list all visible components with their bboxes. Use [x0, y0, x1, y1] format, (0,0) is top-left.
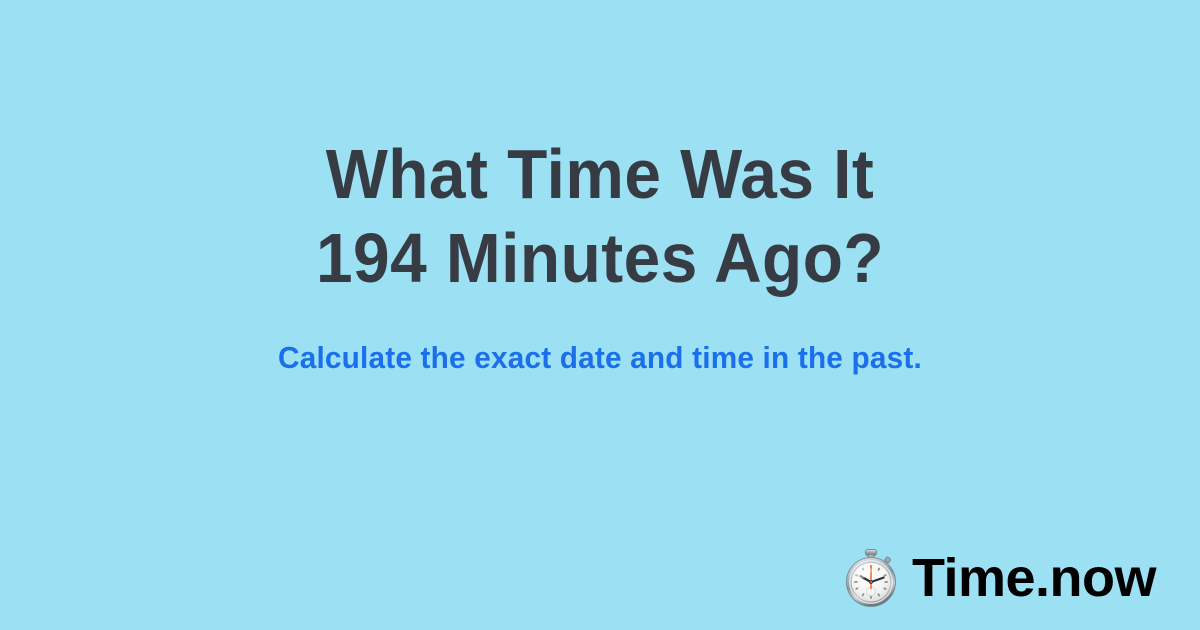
headline-line-1: What Time Was It — [36, 132, 1164, 216]
brand-name: Time.now — [912, 549, 1156, 607]
page-title: What Time Was It 194 Minutes Ago? — [0, 132, 1200, 300]
share-card: What Time Was It 194 Minutes Ago? Calcul… — [0, 0, 1200, 630]
stopwatch-icon — [842, 548, 900, 608]
brand-logo: Time.now — [842, 548, 1156, 608]
headline-line-2: 194 Minutes Ago? — [36, 216, 1164, 300]
page-subtitle: Calculate the exact date and time in the… — [24, 338, 1176, 378]
